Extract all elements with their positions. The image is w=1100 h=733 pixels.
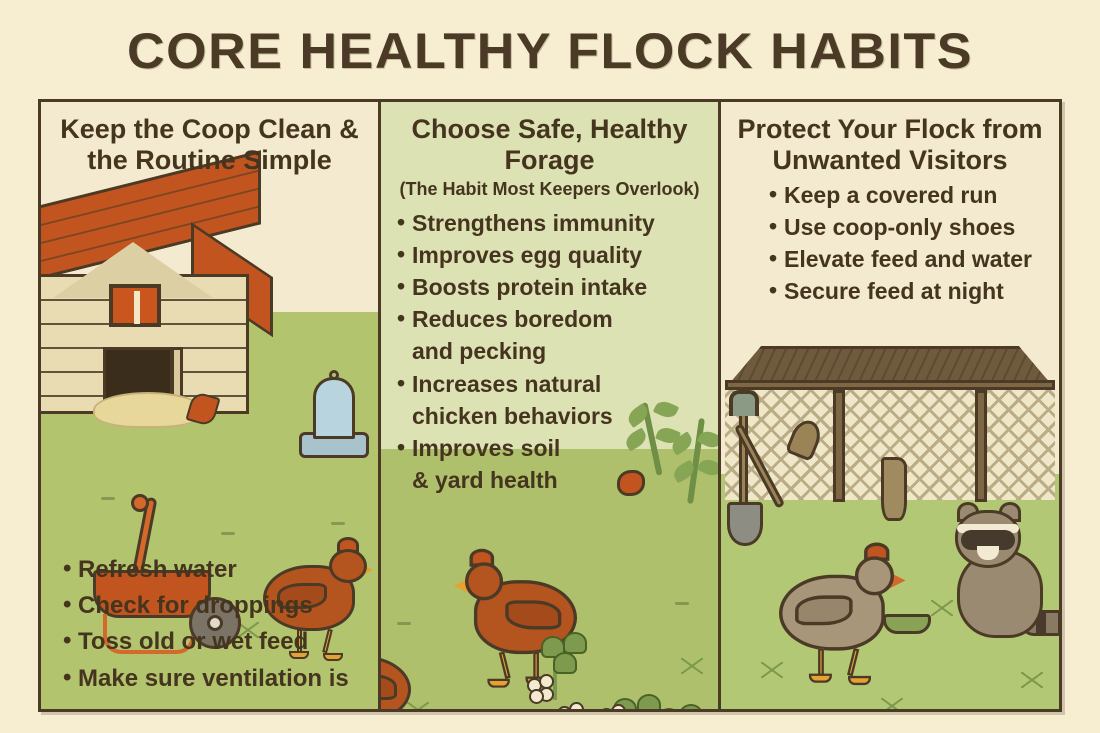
shovel-handle-icon [739,402,748,512]
list-item: Make sure ventilation is [61,665,349,692]
shovel-grip-icon [729,390,759,416]
panel-coop: Keep the Coop Clean & the Routine Simple [41,102,381,709]
grass-tuft-icon [881,698,903,709]
grass-dash-icon [101,497,115,500]
panel-forage-subtitle: (The Habit Most Keepers Overlook) [381,179,718,200]
grass-dash-icon [397,622,411,625]
grass-tuft-icon [1021,672,1043,688]
stump-icon [881,457,907,521]
run-eave-icon [725,380,1055,390]
panel-protect-heading: Protect Your Flock from Unwanted Visitor… [721,102,1059,176]
list-item: Strengthens immunity [395,210,718,236]
list-item: Improves egg quality [395,242,718,268]
panel-protect: Protect Your Flock from Unwanted Visitor… [721,102,1059,709]
waterer-jar-icon [313,377,355,439]
grass-tuft-icon [681,658,703,674]
run-post-icon [975,390,987,502]
list-item: Toss old or wet feed [61,628,349,655]
flower-icon [599,704,633,709]
flower-icon [527,674,561,706]
panel-forage: Choose Safe, Healthy Forage (The Habit M… [381,102,721,709]
coop-window-icon [109,284,161,327]
shovel-blade-icon [727,502,763,546]
list-item-continuation: and pecking [395,338,718,364]
panel-forage-heading: Choose Safe, Healthy Forage [381,102,718,176]
list-item: Increases natural [395,371,718,397]
list-item-continuation: & yard health [395,467,718,493]
grass-tuft-icon [761,662,783,678]
panel-coop-bullets: Refresh water Check for droppings Toss o… [61,556,349,701]
feed-bowl-icon [883,614,931,634]
flower-icon [557,702,591,709]
waterer-handle-icon [329,370,339,380]
grass-dash-icon [331,522,345,525]
grass-tuft-icon [931,600,953,616]
straw-icon [93,392,203,428]
list-item: Check for droppings [61,592,349,619]
grass-tuft-icon [407,702,429,709]
wheelbarrow-grip-icon [131,494,149,512]
grass-dash-icon [221,532,235,535]
panel-coop-heading: Keep the Coop Clean & the Routine Simple [41,102,378,176]
list-item: Boosts protein intake [395,274,718,300]
list-item-continuation: chicken behaviors [395,403,718,429]
list-item: Refresh water [61,556,349,583]
infographic-poster: CORE HEALTHY FLOCK HABITS Keep the Coop … [0,0,1100,733]
run-roof-icon [729,346,1051,384]
list-item: Improves soil [395,435,718,461]
run-post-icon [833,390,845,502]
list-item: Reduces boredom [395,306,718,332]
panel-forage-bullets: Strengthens immunity Improves egg qualit… [395,210,718,494]
panel-protect-bullets: Keep a covered run Use coop-only shoes E… [767,182,1059,305]
page-title: CORE HEALTHY FLOCK HABITS [0,22,1100,80]
list-item: Secure feed at night [767,278,1059,304]
grass-dash-icon [675,602,689,605]
list-item: Keep a covered run [767,182,1059,208]
panels-frame: Keep the Coop Clean & the Routine Simple [38,99,1062,712]
list-item: Use coop-only shoes [767,214,1059,240]
list-item: Elevate feed and water [767,246,1059,272]
